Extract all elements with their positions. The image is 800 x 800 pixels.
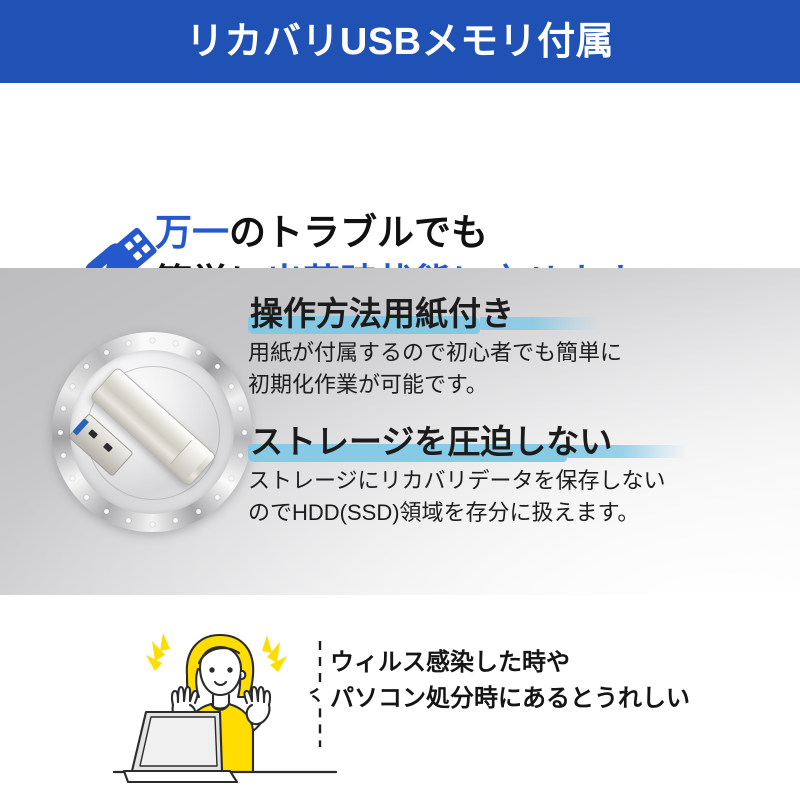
lead-line1-emphasis: 万一 — [155, 212, 229, 253]
feature-2-body-line-1: ストレージにリカバリデータを保存しない — [248, 466, 788, 496]
lead-headline-line-1: 万一のトラブルでも — [155, 208, 795, 258]
photo-usb-pin-2 — [103, 442, 113, 452]
usb-flash-drive-photo — [46, 326, 258, 538]
bottom-caption: ウィルス感染した時や パソコン処分時にあるとうれしい — [330, 645, 790, 717]
product-feature-graphic: リカバリUSBメモリ付属 万一のトラブルでも 簡単に出荷時状態に戻せます — [0, 0, 800, 800]
feature-1-heading: 操作方法用紙付き — [250, 294, 514, 334]
header-banner: リカバリUSBメモリ付属 — [0, 0, 800, 83]
sparkle-left — [146, 633, 170, 671]
dashed-brace-icon — [296, 639, 326, 749]
lead-section: 万一のトラブルでも 簡単に出荷時状態に戻せます — [0, 83, 800, 268]
feature-1-body-line-2: 初期化作業が可能です。 — [248, 370, 788, 400]
caption-line-2: パソコン処分時にあるとうれしい — [330, 681, 790, 717]
feature-1-heading-wrap: 操作方法用紙付き — [248, 294, 520, 336]
feature-2-heading: ストレージを圧迫しない — [250, 422, 612, 462]
sparkle-right — [262, 635, 287, 672]
feature-list: 操作方法用紙付き 用紙が付属するので初心者でも簡単に 初期化作業が可能です。 ス… — [248, 294, 788, 528]
lead-line1-rest: のトラブルでも — [229, 212, 488, 253]
feature-2-body-line-2: のでHDD(SSD)領域を存分に扱えます。 — [248, 498, 788, 528]
banner-title: リカバリUSBメモリ付属 — [186, 23, 614, 61]
feature-item-2: ストレージを圧迫しない ストレージにリカバリデータを保存しない のでHDD(SS… — [248, 422, 788, 528]
feature-panel: 操作方法用紙付き 用紙が付属するので初心者でも簡単に 初期化作業が可能です。 ス… — [0, 268, 800, 595]
feature-2-heading-wrap: ストレージを圧迫しない — [248, 422, 618, 464]
caption-line-1: ウィルス感染した時や — [330, 645, 790, 681]
feature-1-body-line-1: 用紙が付属するので初心者でも簡単に — [248, 338, 788, 368]
bottom-section: ウィルス感染した時や パソコン処分時にあるとうれしい — [0, 595, 800, 800]
feature-item-1: 操作方法用紙付き 用紙が付属するので初心者でも簡単に 初期化作業が可能です。 — [248, 294, 788, 400]
photo-usb-pin-1 — [88, 429, 98, 439]
